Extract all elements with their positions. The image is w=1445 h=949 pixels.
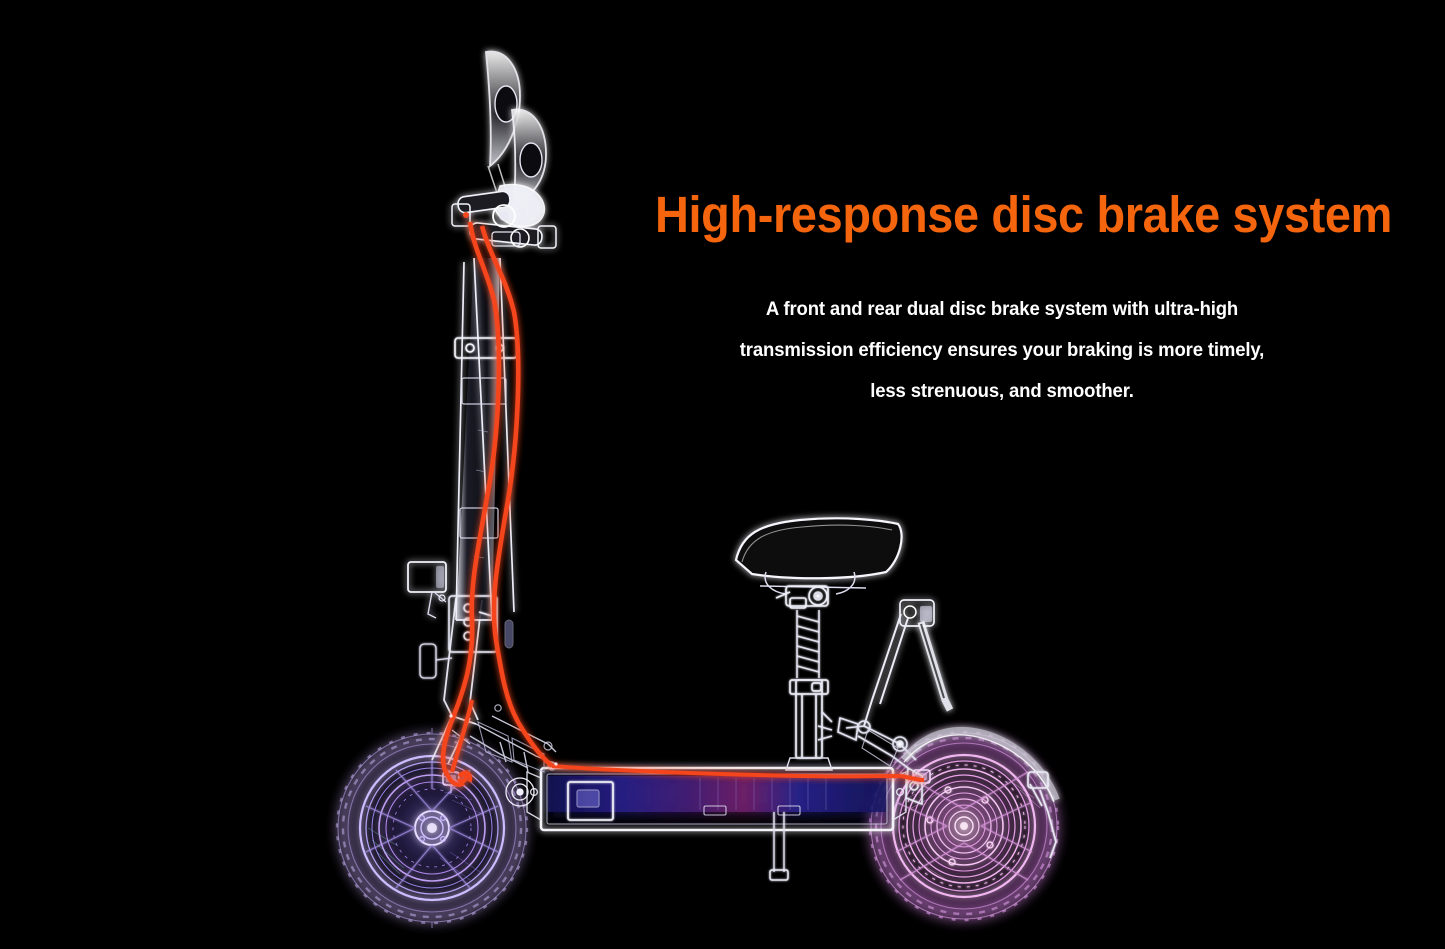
- page-title: High-response disc brake system: [655, 188, 1299, 242]
- fork-lower-linkage: [452, 716, 556, 772]
- deck-mount-front: [527, 772, 541, 820]
- saddle-rails: [760, 572, 866, 594]
- front-rim-mesh: [368, 828, 404, 874]
- master-cylinder: [492, 232, 520, 246]
- seat-post-base: [786, 758, 832, 770]
- rear-fender-stay: [1028, 772, 1056, 858]
- front-tire-glow: [332, 728, 532, 928]
- front-wheel-group: [332, 728, 532, 928]
- stem-cable-guides: [474, 430, 488, 558]
- stem-clamp-upper: [455, 338, 517, 358]
- rear-spokes: [896, 772, 1032, 880]
- brake-line-rear-to-caliper: [900, 776, 924, 780]
- body-copy-line-2: transmission efficiency ensures your bra…: [689, 330, 1316, 371]
- front-rim-glow: [362, 758, 502, 898]
- rear-rim-mesh: [904, 780, 1040, 882]
- stem-side-bracket: [420, 644, 452, 678]
- front-spokes: [366, 760, 498, 888]
- rear-suspension-assembly: [818, 600, 1056, 858]
- body-copy-line-3: less strenuous, and smoother.: [689, 371, 1316, 412]
- deck-battery-assembly: [527, 768, 906, 880]
- brake-line-rear: [482, 226, 552, 766]
- saddle: [736, 518, 902, 578]
- kickstand: [770, 806, 788, 880]
- rear-tire-tread: [871, 733, 1057, 919]
- lever-blade-upper: [457, 190, 511, 213]
- copy-block: High-response disc brake system A front …: [655, 188, 1355, 412]
- lever-pivot-lower: [511, 229, 529, 247]
- rear-wheel-group: [864, 726, 1064, 926]
- front-rim: [360, 756, 504, 900]
- front-hub: [415, 811, 449, 845]
- brake-line-front-to-caliper: [459, 775, 466, 782]
- rear-rim: [893, 755, 1035, 897]
- seat-post-tube: [790, 680, 828, 758]
- rear-brake-disc: [903, 765, 1025, 887]
- stem-folding-hinge: [449, 596, 497, 652]
- telescopic-stem: [408, 258, 517, 678]
- dual-brake-levers: [452, 185, 556, 248]
- left-grip: [486, 51, 520, 166]
- brake-line-front-lower: [448, 776, 462, 785]
- swingarm-linkage: [818, 712, 916, 768]
- promo-slide: High-response disc brake system A front …: [0, 0, 1445, 949]
- body-copy: A front and rear dual disc brake system …: [672, 289, 1332, 412]
- lever-clamp-left: [452, 204, 470, 226]
- deck-bms-module: [704, 806, 800, 815]
- right-grip: [512, 109, 546, 204]
- rear-brake-caliper: [913, 770, 930, 783]
- front-rim-mesh-2: [440, 792, 482, 880]
- stem-body: [456, 258, 500, 620]
- handlebar-assembly: [452, 51, 556, 248]
- front-tread-blocks: [337, 733, 527, 923]
- seat-post-spring: [797, 610, 819, 678]
- display-console: [408, 562, 446, 618]
- scooter-xray-illustration: [0, 0, 1445, 949]
- saddle-highlight: [742, 525, 892, 562]
- battery-glow: [548, 776, 886, 812]
- deck-mount-rear: [893, 772, 906, 820]
- frame-highlights: [449, 595, 901, 766]
- deck-controller-chip: [577, 790, 599, 807]
- rear-hub-motor-glow: [896, 758, 1032, 894]
- fork-triangle-plate: [478, 722, 544, 772]
- stem-outline: [456, 258, 514, 620]
- lever-clamp-right: [538, 226, 556, 248]
- brake-line-front-lower-branch: [452, 700, 472, 772]
- left-grip-end: [495, 86, 517, 122]
- body-copy-line-1: A front and rear dual disc brake system …: [689, 289, 1316, 330]
- front-brake-disc: [379, 775, 485, 881]
- deck-outer-frame: [541, 768, 893, 830]
- swingarm-triangle: [862, 730, 898, 766]
- handlebar-tubes: [488, 164, 528, 216]
- front-tire-tread: [338, 728, 526, 928]
- rear-tread-blocks: [870, 732, 1058, 920]
- lever-pivot-upper: [493, 205, 515, 227]
- rear-shock-rod: [921, 622, 950, 710]
- right-grip-end: [520, 143, 542, 177]
- swingarm-strut: [864, 614, 908, 726]
- fork-hardware: [495, 705, 556, 770]
- brake-line-front-caliper-hose: [459, 772, 470, 782]
- front-brake-caliper: [443, 772, 459, 793]
- deck-controller-box: [568, 782, 613, 820]
- brake-reservoir-port: [463, 212, 469, 218]
- deck-inner-frame: [547, 774, 887, 824]
- rear-axle-plate: [906, 768, 922, 804]
- rear-tire-glow: [864, 726, 1064, 926]
- fork-axle-bolts: [506, 778, 534, 806]
- deck-cell-dividers: [700, 778, 826, 810]
- rear-shock-upper: [900, 600, 934, 626]
- rear-shock-rod-core: [921, 624, 944, 698]
- stem-mid-collar: [460, 378, 506, 538]
- seat-clamp: [776, 586, 828, 608]
- seat-assembly: [736, 518, 902, 770]
- brake-line-front: [443, 222, 499, 776]
- lever-blade-lower: [469, 222, 542, 245]
- rear-fender-edge: [904, 735, 1054, 802]
- rear-hub-motor: [907, 769, 1021, 883]
- front-suspension-fork: [432, 598, 556, 806]
- rear-fender: [904, 731, 1056, 800]
- stem-reflector-strip: [505, 620, 513, 648]
- brake-line-rear-deck-run: [552, 766, 900, 776]
